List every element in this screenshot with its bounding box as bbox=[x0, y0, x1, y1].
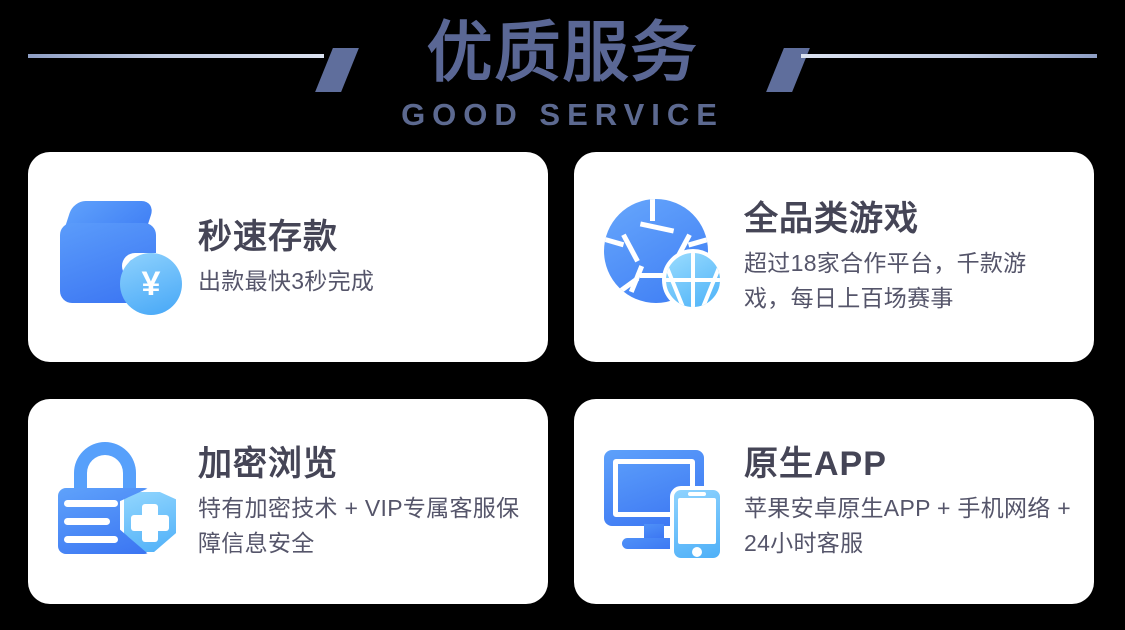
feature-title: 全品类游戏 bbox=[744, 198, 1072, 240]
feature-card-encryption[interactable]: 加密浏览 特有加密技术 + VIP专属客服保障信息安全 bbox=[28, 399, 548, 604]
feature-title: 原生APP bbox=[744, 443, 1072, 485]
feature-card-games[interactable]: 全品类游戏 超过18家合作平台，千款游戏，每日上百场赛事 bbox=[574, 152, 1094, 362]
wallet-yen-icon: ¥ bbox=[54, 191, 186, 323]
shield-cross-icon bbox=[131, 515, 169, 531]
banner-header: 优质服务 GOOD SERVICE bbox=[0, 0, 1125, 142]
feature-card-deposit[interactable]: ¥ 秒速存款 出款最快3秒完成 bbox=[28, 152, 548, 362]
feature-text-native-app: 原生APP 苹果安卓原生APP + 手机网络 + 24小时客服 bbox=[732, 443, 1072, 561]
feature-card-native-app[interactable]: 原生APP 苹果安卓原生APP + 手机网络 + 24小时客服 bbox=[574, 399, 1094, 604]
feature-title: 秒速存款 bbox=[198, 216, 526, 258]
lock-shackle-icon bbox=[74, 442, 136, 492]
basketball-icon bbox=[662, 249, 724, 311]
monitor-phone-icon bbox=[600, 436, 732, 568]
feature-desc: 超过18家合作平台，千款游戏，每日上百场赛事 bbox=[744, 246, 1072, 316]
soccer-basketball-icon bbox=[600, 191, 732, 323]
feature-title: 加密浏览 bbox=[198, 443, 526, 485]
page-subtitle: GOOD SERVICE bbox=[0, 98, 1125, 132]
yen-coin-icon: ¥ bbox=[120, 253, 182, 315]
feature-desc: 出款最快3秒完成 bbox=[198, 264, 526, 299]
lock-shield-icon bbox=[54, 436, 186, 568]
header-rule-right bbox=[801, 54, 1097, 58]
feature-text-games: 全品类游戏 超过18家合作平台，千款游戏，每日上百场赛事 bbox=[732, 198, 1072, 316]
feature-text-encryption: 加密浏览 特有加密技术 + VIP专属客服保障信息安全 bbox=[186, 443, 526, 561]
promo-banner: 优质服务 GOOD SERVICE ¥ 秒速存款 出款最快3秒完成 bbox=[0, 0, 1125, 630]
phone-screen-icon bbox=[678, 498, 716, 544]
feature-card-grid: ¥ 秒速存款 出款最快3秒完成 bbox=[28, 152, 1097, 604]
page-title: 优质服务 bbox=[0, 10, 1125, 94]
feature-desc: 苹果安卓原生APP + 手机网络 + 24小时客服 bbox=[744, 491, 1072, 561]
phone-home-button-icon bbox=[692, 547, 702, 557]
feature-text-deposit: 秒速存款 出款最快3秒完成 bbox=[186, 216, 526, 299]
phone-speaker-icon bbox=[688, 492, 706, 496]
feature-desc: 特有加密技术 + VIP专属客服保障信息安全 bbox=[198, 491, 526, 561]
